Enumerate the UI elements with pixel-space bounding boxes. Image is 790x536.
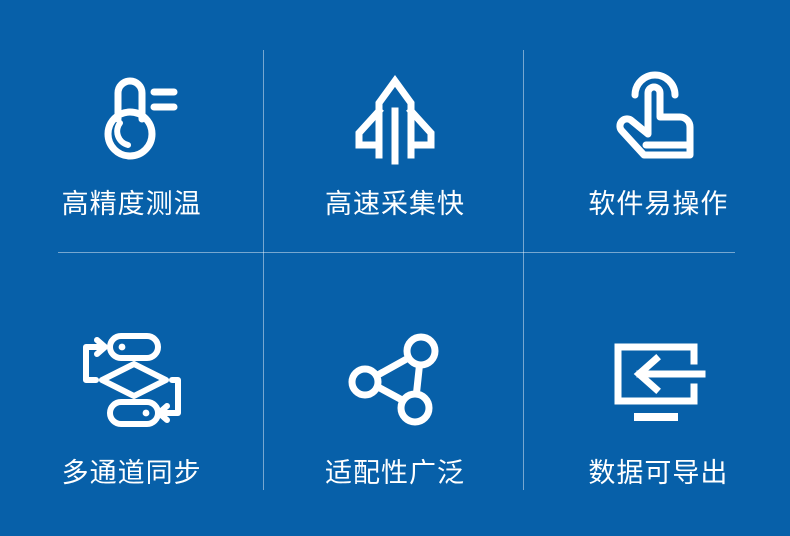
export-to-screen-icon [608, 325, 708, 435]
feature-cell-multichannel-sync[interactable]: 多通道同步 [0, 268, 263, 536]
feature-banner: 高精度测温 高速采集快 [0, 0, 790, 536]
feature-cell-easy-software-operation[interactable]: 软件易操作 [527, 0, 790, 268]
feature-grid: 高精度测温 高速采集快 [0, 0, 790, 536]
share-network-icon [345, 325, 445, 435]
feature-label: 高速采集快 [325, 188, 465, 220]
feature-label: 高精度测温 [62, 188, 202, 220]
feature-label: 适配性广泛 [325, 457, 465, 489]
tap-hand-icon [608, 62, 708, 172]
feature-label: 数据可导出 [588, 457, 728, 489]
sync-modules-icon [80, 325, 184, 435]
feature-label: 软件易操作 [588, 188, 728, 220]
feature-cell-high-speed-acquisition[interactable]: 高速采集快 [263, 0, 526, 268]
feature-cell-wide-compatibility[interactable]: 适配性广泛 [263, 268, 526, 536]
thermometer-icon [82, 62, 182, 172]
feature-label: 多通道同步 [62, 457, 202, 489]
feature-cell-high-precision-temperature[interactable]: 高精度测温 [0, 0, 263, 268]
rocket-icon [343, 62, 447, 172]
feature-cell-data-export[interactable]: 数据可导出 [527, 268, 790, 536]
